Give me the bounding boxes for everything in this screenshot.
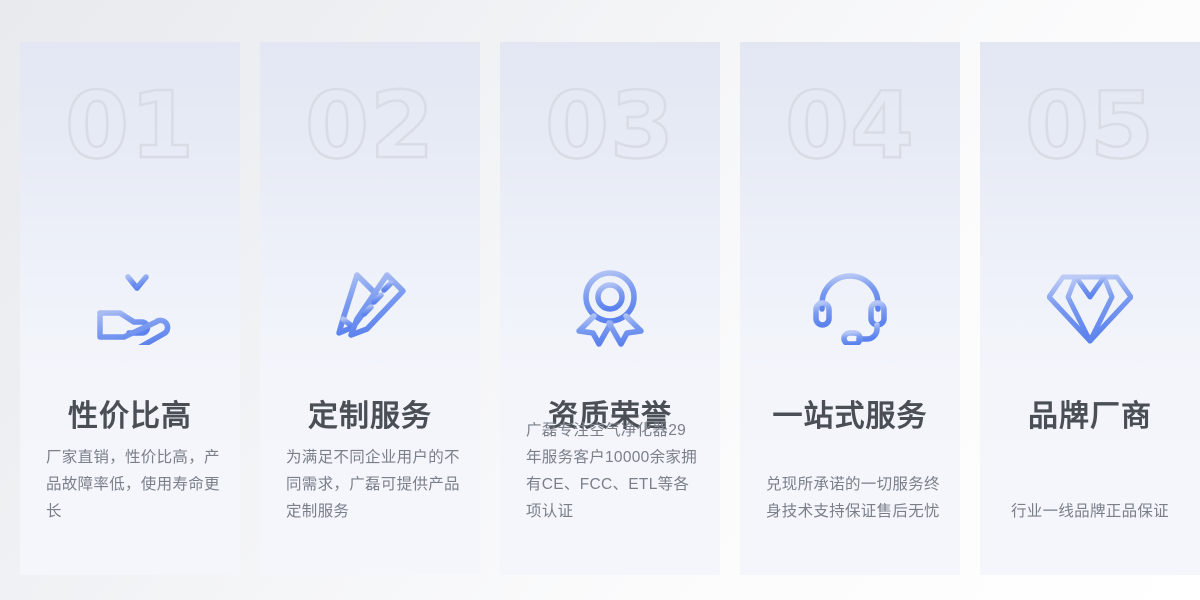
card-number-watermark: 05 [980,80,1200,172]
card-title: 定制服务 [260,397,480,436]
feature-card[interactable]: 05 品牌厂商 行业一线品牌正品 [980,42,1200,575]
card-number-watermark: 03 [500,80,720,172]
pencil-ruler-icon [260,270,480,346]
hand-holding-yuan-icon [20,270,240,346]
feature-card[interactable]: 02 [260,42,480,575]
card-title: 一站式服务 [740,397,960,436]
card-description: 兑现所承诺的一切服务终身技术支持保证售后无忧 [766,471,940,525]
feature-card[interactable]: 04 一站式服务 兑现所承诺的一 [740,42,960,575]
feature-card[interactable]: 03 资质荣誉 广磊专注空气净化器29年服务客户100 [500,42,720,575]
card-number-watermark: 04 [740,80,960,172]
card-description: 广磊专注空气净化器29年服务客户10000余家拥有CE、FCC、ETL等各项认证 [526,417,700,525]
features-section: 01 [20,42,1168,575]
headset-icon [740,270,960,346]
card-description: 厂家直销，性价比高，产品故障率低，使用寿命更长 [46,444,220,525]
card-title: 性价比高 [20,397,240,436]
card-number-watermark: 02 [260,80,480,172]
award-medal-icon [500,270,720,346]
card-description: 行业一线品牌正品保证 [994,498,1186,525]
card-title: 品牌厂商 [980,397,1200,436]
card-description: 为满足不同企业用户的不同需求，广磊可提供产品定制服务 [286,444,460,525]
diamond-icon [980,270,1200,346]
feature-card[interactable]: 01 [20,42,240,575]
card-number-watermark: 01 [20,80,240,172]
